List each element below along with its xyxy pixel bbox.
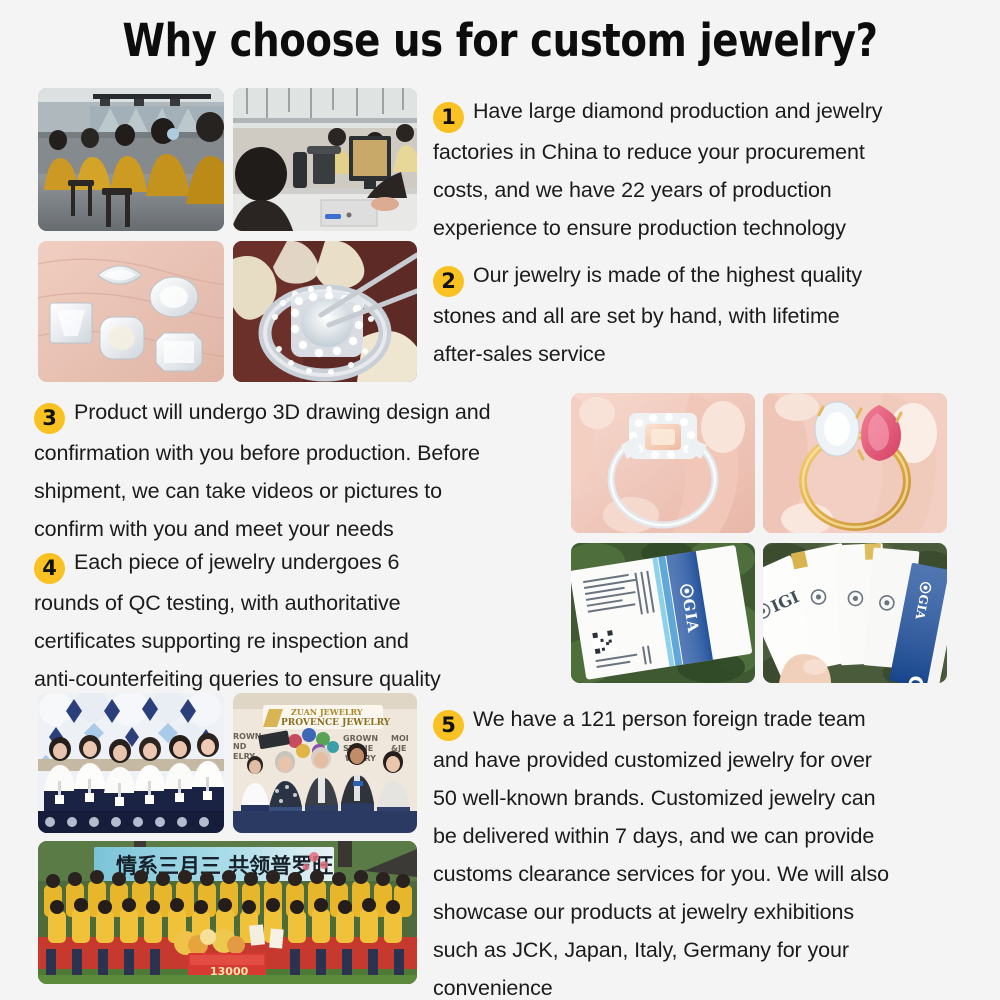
benefit-item-4: 4Each piece of jewelry undergoes 6 round… — [34, 543, 574, 698]
photo-gia-certificate: GIA — [571, 543, 755, 683]
benefit-badge-2: 2 — [433, 266, 464, 297]
photo-company-group: 情系三月三 共领普罗旺 — [38, 841, 417, 984]
benefit-line: confirm with you and meet your needs — [34, 517, 394, 541]
benefit-line: convenience — [433, 976, 553, 1000]
photo-stone-setting — [233, 241, 417, 382]
svg-text:GROWN: GROWN — [343, 734, 378, 743]
benefit-line: We have a 121 person foreign trade team — [473, 707, 866, 731]
photo-team-women — [38, 693, 224, 833]
benefit-line: Have large diamond production and jewelr… — [473, 99, 882, 123]
benefit-item-5: 5We have a 121 person foreign trade team… — [433, 700, 978, 1000]
benefit-badge-5: 5 — [433, 710, 464, 741]
benefit-line: costs, and we have 22 years of productio… — [433, 178, 832, 202]
photo-factory-workers — [38, 88, 224, 231]
photo-certificate-fan: IGI — [763, 543, 947, 683]
benefit-line: be delivered within 7 days, and we can p… — [433, 824, 874, 848]
benefit-line: shipment, we can take videos or pictures… — [34, 479, 442, 503]
benefit-item-3: 3Product will undergo 3D drawing design … — [34, 393, 574, 548]
svg-text:MOI: MOI — [391, 734, 409, 743]
benefit-line: and have provided customized jewelry for… — [433, 748, 872, 772]
benefit-line: 50 well-known brands. Customized jewelry… — [433, 786, 876, 810]
benefit-line: stones and all are set by hand, with lif… — [433, 304, 840, 328]
benefit-badge-4: 4 — [34, 553, 65, 584]
photo-morganite-ring — [571, 393, 755, 533]
benefit-line: experience to ensure production technolo… — [433, 216, 846, 240]
benefit-line: certificates supporting re inspection an… — [34, 629, 409, 653]
infographic-page: Why choose us for custom jewelry? — [0, 0, 1000, 1000]
photo-trade-show-booth: ZUAN JEWELRY PROVENCE JEWELRY ROWN ND EL… — [233, 693, 417, 833]
photo-qc-workstation — [233, 88, 417, 231]
page-title: Why choose us for custom jewelry? — [70, 14, 930, 67]
benefit-line: confirmation with you before production.… — [34, 441, 480, 465]
benefit-badge-1: 1 — [433, 102, 464, 133]
benefit-line: anti-counterfeiting queries to ensure qu… — [34, 667, 441, 691]
photo-loose-diamonds — [38, 241, 224, 382]
benefit-item-1: 1Have large diamond production and jewel… — [433, 92, 973, 247]
benefit-line: after-sales service — [433, 342, 606, 366]
benefit-line: showcase our products at jewelry exhibit… — [433, 900, 854, 924]
svg-text:ROWN: ROWN — [233, 732, 261, 741]
benefit-line: Our jewelry is made of the highest quali… — [473, 263, 862, 287]
photo-toi-et-moi-ring — [763, 393, 947, 533]
benefit-item-2: 2Our jewelry is made of the highest qual… — [433, 256, 973, 373]
benefit-line: Product will undergo 3D drawing design a… — [74, 400, 491, 424]
benefit-badge-3: 3 — [34, 403, 65, 434]
benefit-line: rounds of QC testing, with authoritative — [34, 591, 400, 615]
benefit-line: customs clearance services for you. We w… — [433, 862, 889, 886]
benefit-line: Each piece of jewelry undergoes 6 — [74, 550, 399, 574]
booth-sign-line-2: PROVENCE JEWELRY — [281, 718, 391, 728]
svg-text:ND: ND — [233, 742, 247, 751]
benefit-line: factories in China to reduce your procur… — [433, 140, 865, 164]
benefit-line: such as JCK, Japan, Italy, Germany for y… — [433, 938, 849, 962]
booth-sign-line-1: ZUAN JEWELRY — [291, 707, 363, 717]
